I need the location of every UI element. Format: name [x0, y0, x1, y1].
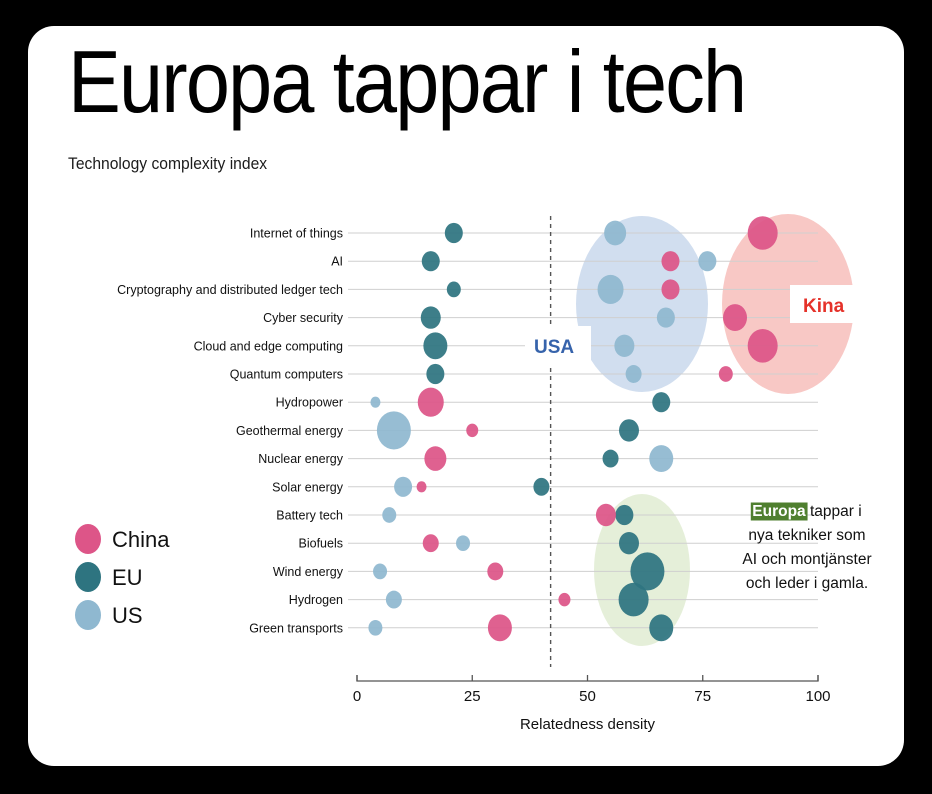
- bubble[interactable]: [558, 593, 570, 606]
- bubble[interactable]: [488, 614, 512, 641]
- y-axis-label: Quantum computers: [230, 368, 343, 382]
- bubble[interactable]: [386, 591, 402, 609]
- legend-swatch: [75, 562, 101, 592]
- bubble[interactable]: [603, 450, 619, 468]
- europa-annotation-line: och leder i gamla.: [746, 575, 868, 592]
- y-axis-label: Wind energy: [273, 565, 344, 579]
- bubble[interactable]: [719, 366, 733, 382]
- bubble[interactable]: [422, 251, 440, 271]
- bubble[interactable]: [533, 478, 549, 496]
- bubble[interactable]: [370, 397, 380, 408]
- europa-annotation-line: Europa tappar i: [752, 503, 861, 520]
- bubble[interactable]: [377, 411, 411, 449]
- bubble[interactable]: [596, 504, 616, 526]
- bubble[interactable]: [652, 392, 670, 412]
- kina-callout-label: Kina: [803, 296, 845, 317]
- bubble[interactable]: [723, 304, 747, 331]
- bubble[interactable]: [421, 306, 441, 328]
- x-axis-title: Relatedness density: [520, 716, 656, 733]
- y-axis-label: Nuclear energy: [258, 452, 344, 466]
- bubble[interactable]: [748, 329, 778, 363]
- bubble[interactable]: [466, 424, 478, 437]
- legend-label[interactable]: EU: [112, 565, 143, 590]
- y-axis-label: Cryptography and distributed ledger tech: [117, 283, 343, 297]
- x-axis-tick-label: 75: [694, 688, 711, 705]
- bubble[interactable]: [456, 535, 470, 551]
- bubble[interactable]: [615, 505, 633, 525]
- chart-svg: Internet of thingsAICryptography and dis…: [28, 26, 904, 766]
- legend-swatch: [75, 600, 101, 630]
- y-axis-label: Hydrogen: [289, 593, 343, 607]
- bubble[interactable]: [487, 562, 503, 580]
- bubble[interactable]: [447, 282, 461, 298]
- bubbles-layer: [368, 216, 777, 641]
- bubble[interactable]: [698, 251, 716, 271]
- y-axis-label: Cloud and edge computing: [194, 339, 343, 353]
- bubble[interactable]: [657, 308, 675, 328]
- x-axis-tick-label: 25: [464, 688, 481, 705]
- bubble[interactable]: [614, 335, 634, 357]
- bubble[interactable]: [649, 445, 673, 472]
- bubble[interactable]: [382, 507, 396, 523]
- y-axis-label: Biofuels: [299, 537, 343, 551]
- europa-highlight-word: Europa: [752, 503, 806, 520]
- europa-annotation-line: nya tekniker som: [748, 527, 865, 544]
- bubble-chart: Internet of thingsAICryptography and dis…: [28, 26, 904, 766]
- bubble[interactable]: [418, 388, 444, 417]
- legend-label[interactable]: China: [112, 527, 170, 552]
- x-axis-tick-label: 50: [579, 688, 596, 705]
- x-axis: 0255075100Relatedness density: [353, 675, 831, 733]
- bubble[interactable]: [619, 532, 639, 554]
- bubble[interactable]: [619, 583, 649, 617]
- usa-highlight-ellipse: [576, 216, 708, 392]
- x-axis-tick-label: 100: [805, 688, 830, 705]
- europa-annotation-rest: tappar i: [806, 503, 862, 520]
- bubble[interactable]: [417, 481, 427, 492]
- y-axis-label: AI: [331, 255, 343, 269]
- legend-label[interactable]: US: [112, 603, 143, 628]
- y-axis-label: Geothermal energy: [236, 424, 344, 438]
- bubble[interactable]: [423, 332, 447, 359]
- bubble[interactable]: [661, 251, 679, 271]
- bubble[interactable]: [661, 279, 679, 299]
- bubble[interactable]: [626, 365, 642, 383]
- bubble[interactable]: [598, 275, 624, 304]
- bubble[interactable]: [604, 221, 626, 246]
- y-axis-label: Battery tech: [276, 509, 343, 523]
- bubble[interactable]: [748, 216, 778, 250]
- y-axis-label: Green transports: [249, 621, 343, 635]
- bubble[interactable]: [424, 446, 446, 471]
- bubble[interactable]: [394, 477, 412, 497]
- legend-swatch: [75, 524, 101, 554]
- bubble[interactable]: [649, 614, 673, 641]
- bubble[interactable]: [426, 364, 444, 384]
- usa-callout-label: USA: [534, 337, 574, 358]
- bubble[interactable]: [619, 419, 639, 441]
- y-axis-labels: Internet of thingsAICryptography and dis…: [117, 227, 344, 636]
- bubble[interactable]: [445, 223, 463, 243]
- y-axis-label: Hydropower: [276, 396, 343, 410]
- chart-card: Europa tappar i tech Technology complexi…: [28, 26, 904, 766]
- x-axis-tick-label: 0: [353, 688, 361, 705]
- y-axis-label: Cyber security: [263, 311, 344, 325]
- bubble[interactable]: [368, 620, 382, 636]
- bubble[interactable]: [373, 564, 387, 580]
- europa-annotation-line: AI och montjänster: [742, 551, 871, 568]
- y-axis-label: Solar energy: [272, 480, 344, 494]
- legend: ChinaEUUS: [75, 524, 170, 630]
- y-axis-label: Internet of things: [250, 227, 343, 241]
- bubble[interactable]: [423, 534, 439, 552]
